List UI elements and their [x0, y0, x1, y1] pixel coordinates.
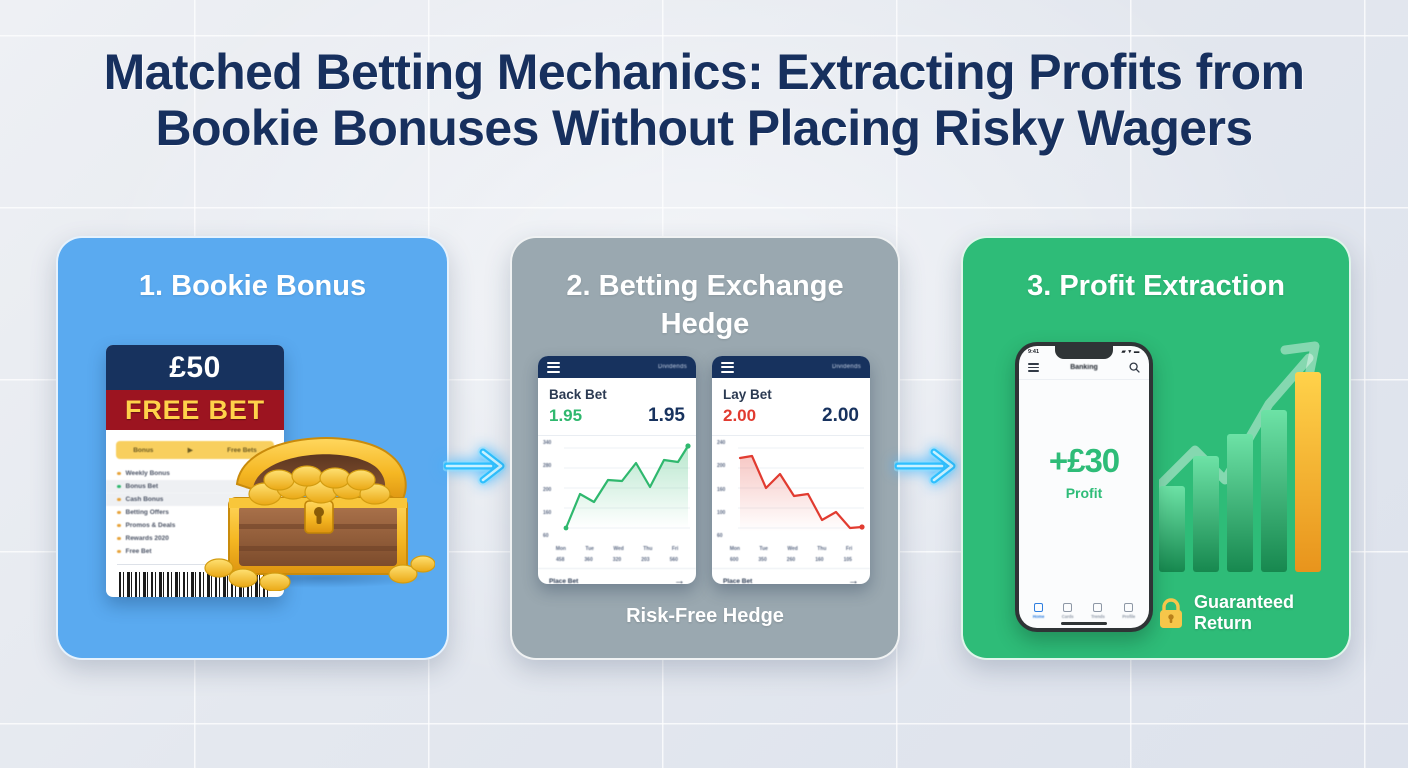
y-tick: 280: [543, 463, 563, 469]
lay-bet-odds: 2.00 2.00: [712, 404, 870, 435]
bullet-icon: [117, 511, 121, 515]
y-tick: 160: [717, 487, 737, 493]
bullet-icon: [117, 537, 121, 541]
nav-item-home[interactable]: Home: [1033, 603, 1045, 619]
nav-label: Trends: [1091, 614, 1105, 619]
x-value: 203: [641, 557, 649, 563]
bullet-icon: [117, 472, 121, 476]
x-value: 160: [815, 557, 823, 563]
nav-item-cards[interactable]: Cards: [1062, 603, 1074, 619]
x-value: 260: [787, 557, 795, 563]
lay-bet-y-labels: 240 200 160 100 60: [717, 440, 737, 539]
arrow-right-icon[interactable]: →: [848, 575, 859, 584]
y-tick: 160: [543, 510, 563, 516]
profile-icon: [1124, 603, 1133, 612]
y-tick: 240: [717, 440, 737, 446]
menu-icon[interactable]: [721, 362, 734, 373]
x-value: 350: [758, 557, 766, 563]
banking-phone[interactable]: 9:41 ▰ ▾ ▬ Banking +£30 Profit: [1015, 342, 1153, 632]
lay-bet-topbar: Dividends: [712, 356, 870, 378]
lay-bet-odds-left: 2.00: [723, 406, 756, 426]
back-bet-topbar-label: Dividends: [658, 364, 687, 370]
profit-label: Profit: [1019, 485, 1149, 501]
app-title: Banking: [1070, 364, 1098, 371]
lay-bet-footer-label: Place Bet: [723, 578, 752, 585]
home-indicator: [1061, 622, 1107, 625]
bullet-icon: [117, 524, 121, 528]
back-bet-topbar: Dividends: [538, 356, 696, 378]
x-value: 105: [844, 557, 852, 563]
voucher-tab-0[interactable]: Bonus: [133, 447, 153, 454]
back-bet-chart: 340 280 200 160 60: [538, 435, 696, 543]
card-1-title: 1. Bookie Bonus: [58, 238, 447, 306]
y-tick: 200: [717, 463, 737, 469]
x-value: 560: [670, 557, 678, 563]
lock-icon: [1157, 597, 1185, 629]
guarantee-line-2: Return: [1194, 613, 1294, 634]
status-icons: ▰ ▾ ▬: [1121, 349, 1140, 355]
lay-bet-phone[interactable]: Dividends Lay Bet 2.00 2.00 240 200 160 …: [712, 356, 870, 584]
profit-amount: +£30: [1019, 442, 1149, 480]
bullet-icon: [117, 485, 121, 489]
menu-icon[interactable]: [547, 362, 560, 373]
phone-screen: 9:41 ▰ ▾ ▬ Banking +£30 Profit: [1019, 346, 1149, 628]
arrow-right-icon: [894, 445, 968, 487]
lay-bet-odds-right: 2.00: [822, 405, 859, 427]
step-card-betting-exchange-hedge[interactable]: 2. Betting Exchange Hedge Dividends Back…: [510, 236, 900, 660]
gap-1: [449, 236, 510, 660]
title-line-1: Matched Betting Mechanics: Extracting Pr…: [0, 44, 1408, 100]
x-value: 600: [730, 557, 738, 563]
arrow-right-icon[interactable]: →: [674, 575, 685, 584]
back-bet-name: Back Bet: [538, 378, 696, 404]
lay-bet-x-labels-row1: Mon Tue Wed Thu Fri: [712, 543, 870, 552]
nav-label: Home: [1033, 614, 1045, 619]
lay-bet-topbar-label: Dividends: [832, 364, 861, 370]
lay-bet-chart: 240 200 160 100 60: [712, 435, 870, 543]
x-value: 320: [613, 557, 621, 563]
back-bet-x-labels-row1: Mon Tue Wed Thu Fri: [538, 543, 696, 552]
back-bet-phone[interactable]: Dividends Back Bet 1.95 1.95 340 280 200…: [538, 356, 696, 584]
y-tick: 340: [543, 440, 563, 446]
arrow-2-3: [892, 442, 970, 490]
menu-icon[interactable]: [1028, 363, 1039, 372]
gap-2: [900, 236, 961, 660]
back-bet-odds-left: 1.95: [549, 406, 582, 426]
back-bet-odds-right: 1.95: [648, 405, 685, 427]
voucher-amount: £50: [106, 345, 284, 390]
cards-icon: [1063, 603, 1072, 612]
treasure-chest-icon: [203, 406, 435, 591]
bullet-icon: [117, 550, 121, 554]
guaranteed-return-badge: Guaranteed Return: [1157, 592, 1339, 634]
lay-bet-name: Lay Bet: [712, 378, 870, 404]
card-3-title: 3. Profit Extraction: [963, 238, 1349, 306]
page-title: Matched Betting Mechanics: Extracting Pr…: [0, 44, 1408, 156]
guarantee-line-1: Guaranteed: [1194, 592, 1294, 613]
arrow-right-icon: [443, 445, 517, 487]
nav-label: Cards: [1062, 614, 1074, 619]
guaranteed-return-bar-chart: [1159, 300, 1345, 600]
steps-row: 1. Bookie Bonus £50 FREE BET Bonus ▶ Fre…: [56, 236, 1352, 660]
bullet-icon: [117, 498, 121, 502]
y-tick: 200: [543, 487, 563, 493]
x-value: 458: [556, 557, 564, 563]
arrow-1-2: [441, 442, 519, 490]
lay-bet-x-labels-row2: 600 350 260 160 105: [712, 552, 870, 563]
nav-label: Profile: [1122, 614, 1135, 619]
trends-icon: [1093, 603, 1102, 612]
back-bet-odds: 1.95 1.95: [538, 404, 696, 435]
step-card-profit-extraction[interactable]: 3. Profit Extraction: [961, 236, 1351, 660]
lay-bet-footer[interactable]: Place Bet →: [712, 568, 870, 584]
back-bet-footer[interactable]: Place Bet →: [538, 568, 696, 584]
y-tick: 60: [543, 533, 563, 539]
back-bet-footer-label: Place Bet: [549, 578, 578, 585]
y-tick: 100: [717, 510, 737, 516]
nav-item-profile[interactable]: Profile: [1122, 603, 1135, 619]
x-value: 360: [584, 557, 592, 563]
guaranteed-return-text: Guaranteed Return: [1194, 592, 1294, 634]
title-line-2: Bookie Bonuses Without Placing Risky Wag…: [0, 100, 1408, 156]
search-icon[interactable]: [1129, 362, 1140, 373]
back-bet-x-labels-row2: 458 360 320 203 560: [538, 552, 696, 563]
nav-item-trends[interactable]: Trends: [1091, 603, 1105, 619]
step-card-bookie-bonus[interactable]: 1. Bookie Bonus £50 FREE BET Bonus ▶ Fre…: [56, 236, 449, 660]
card-2-title: 2. Betting Exchange Hedge: [512, 238, 898, 343]
profit-display: +£30 Profit: [1019, 442, 1149, 501]
voucher-tab-arrow-icon: ▶: [188, 446, 193, 454]
home-icon: [1034, 603, 1043, 612]
y-tick: 60: [717, 533, 737, 539]
phone-status-bar: 9:41 ▰ ▾ ▬: [1019, 346, 1149, 355]
back-bet-y-labels: 340 280 200 160 60: [543, 440, 563, 539]
card-2-caption: Risk-Free Hedge: [512, 605, 898, 628]
status-time: 9:41: [1028, 349, 1039, 355]
phone-bottom-nav[interactable]: Home Cards Trends Profile: [1019, 603, 1149, 619]
